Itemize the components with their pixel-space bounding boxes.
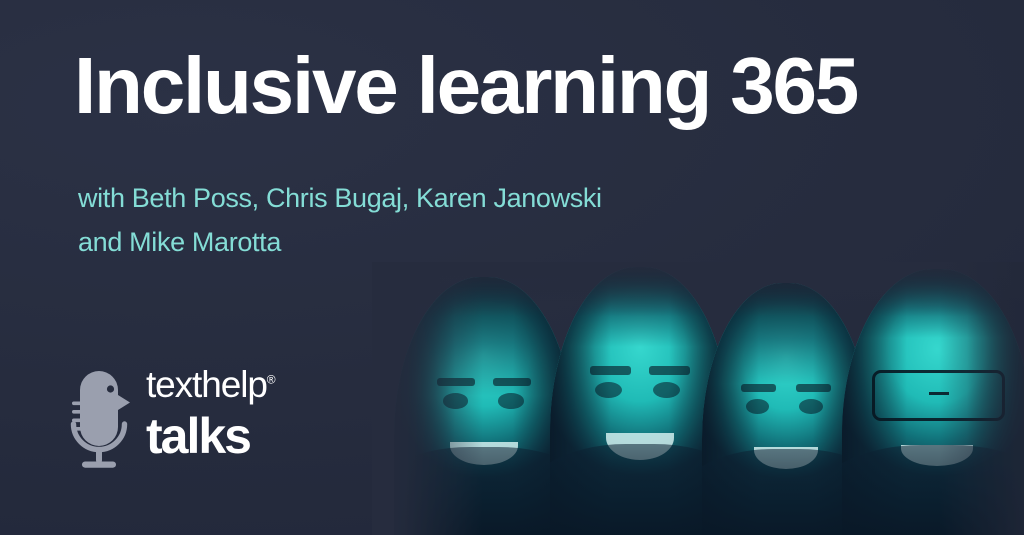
presenters-subtitle: with Beth Poss, Chris Bugaj, Karen Janow… [78,177,718,264]
bird-microphone-icon [70,364,136,472]
portrait-brow-right [493,378,531,386]
portrait-brow-left [741,384,776,392]
portrait-brow-left [590,366,631,375]
portrait-eye-right [498,393,523,408]
portrait-eye-right [799,399,823,414]
presenter-photo-mike-marotta [842,269,1024,535]
texthelp-wordmark: texthelp® talks [146,366,291,461]
eyeglasses-icon [872,370,1005,421]
portrait-brow-right [796,384,831,392]
portrait-brow-left [437,378,475,386]
portrait-brow-right [649,366,690,375]
portrait-shoulders [394,447,574,535]
portrait-eye-left [746,399,770,414]
texthelp-talks-logo[interactable]: texthelp® talks [70,362,285,477]
presenter-photo-group [372,262,1024,535]
registered-trademark-icon: ® [267,373,276,387]
page-title: Inclusive learning 365 [74,45,974,127]
portrait-shoulders [842,445,1024,535]
portrait-eye-right [653,382,680,398]
program-name: talks [146,411,291,461]
portrait-eye-left [443,393,468,408]
presenters-line-2: and Mike Marotta [78,221,718,265]
presenter-photo-beth-poss [394,277,574,535]
brand-name: texthelp® [146,366,276,403]
presenters-line-1: with Beth Poss, Chris Bugaj, Karen Janow… [78,177,718,221]
brand-name-text: texthelp [146,364,267,405]
podcast-banner: Inclusive learning 365 with Beth Poss, C… [0,0,1024,535]
